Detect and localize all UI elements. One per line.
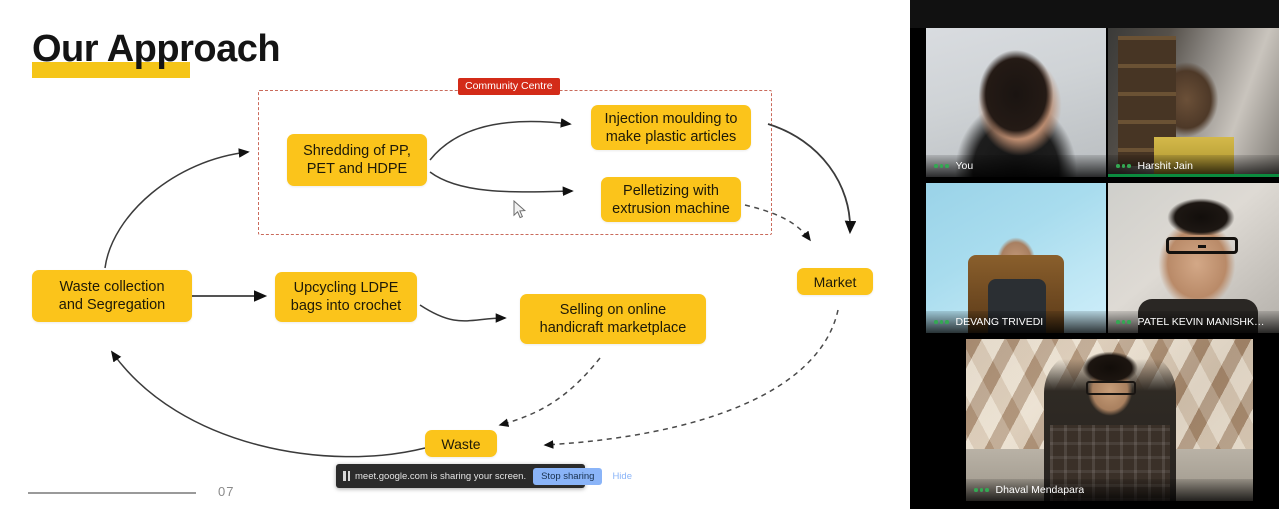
node-label: Selling on onlinehandicraft marketplace (540, 301, 687, 337)
participant-tile-dhaval-mendapara[interactable]: Dhaval Mendapara (966, 339, 1253, 501)
node-waste: Waste (425, 430, 497, 457)
community-centre-label: Community Centre (458, 78, 560, 95)
participant-name: Harshit Jain (1138, 160, 1193, 172)
shared-slide: Our Approach Community Centre (0, 0, 910, 509)
mic-activity-icon (1116, 164, 1131, 168)
node-label: Waste collectionand Segregation (59, 278, 165, 314)
node-label: Injection moulding tomake plastic articl… (605, 110, 738, 146)
node-label: Upcycling LDPEbags into crochet (291, 279, 401, 315)
mic-activity-icon (934, 164, 949, 168)
participant-tile-devang-trivedi[interactable]: DEVANG TRIVEDI (926, 183, 1106, 333)
node-injection-moulding: Injection moulding tomake plastic articl… (591, 105, 751, 150)
screen-share-meeting-view: Our Approach Community Centre (0, 0, 1279, 509)
node-waste-collection: Waste collectionand Segregation (32, 270, 192, 322)
participant-name: PATEL KEVIN MANISHK… (1138, 316, 1265, 328)
speaking-indicator (1108, 174, 1279, 177)
node-shredding: Shredding of PP,PET and HDPE (287, 134, 427, 186)
node-label: Waste (441, 435, 480, 453)
participants-panel: You Harshit Jain DEVANG TRIVEDI (910, 0, 1279, 509)
node-upcycling-ldpe: Upcycling LDPEbags into crochet (275, 272, 417, 322)
participant-name: You (956, 160, 974, 172)
participant-name: Dhaval Mendapara (996, 484, 1085, 496)
participant-tile-you[interactable]: You (926, 28, 1106, 177)
participant-tile-harshit-jain[interactable]: Harshit Jain (1108, 28, 1279, 177)
hide-button[interactable]: Hide (612, 471, 632, 482)
page-title: Our Approach (32, 28, 280, 71)
mic-activity-icon (974, 488, 989, 492)
participant-name-strip: DEVANG TRIVEDI (926, 311, 1106, 333)
share-status-text: meet.google.com is sharing your screen. (355, 471, 526, 482)
mouse-cursor-icon (513, 200, 527, 220)
node-label: Market (814, 273, 857, 291)
mic-activity-icon (934, 320, 949, 324)
node-pelletizing: Pelletizing withextrusion machine (601, 177, 741, 222)
mic-activity-icon (1116, 320, 1131, 324)
panel-top-bar (910, 0, 1279, 28)
pause-icon[interactable] (343, 471, 350, 481)
participant-name-strip: You (926, 155, 1106, 177)
screen-share-bar: meet.google.com is sharing your screen. … (336, 464, 585, 488)
participant-tile-patel-kevin[interactable]: PATEL KEVIN MANISHK… (1108, 183, 1279, 333)
participant-name-strip: PATEL KEVIN MANISHK… (1108, 311, 1279, 333)
stop-sharing-button[interactable]: Stop sharing (533, 468, 602, 485)
node-label: Pelletizing withextrusion machine (612, 182, 730, 218)
node-market: Market (797, 268, 873, 295)
video-feed (966, 339, 1253, 501)
participant-name-strip: Dhaval Mendapara (966, 479, 1253, 501)
node-selling-online: Selling on onlinehandicraft marketplace (520, 294, 706, 344)
node-label: Shredding of PP,PET and HDPE (303, 142, 411, 178)
participant-name: DEVANG TRIVEDI (956, 316, 1044, 328)
